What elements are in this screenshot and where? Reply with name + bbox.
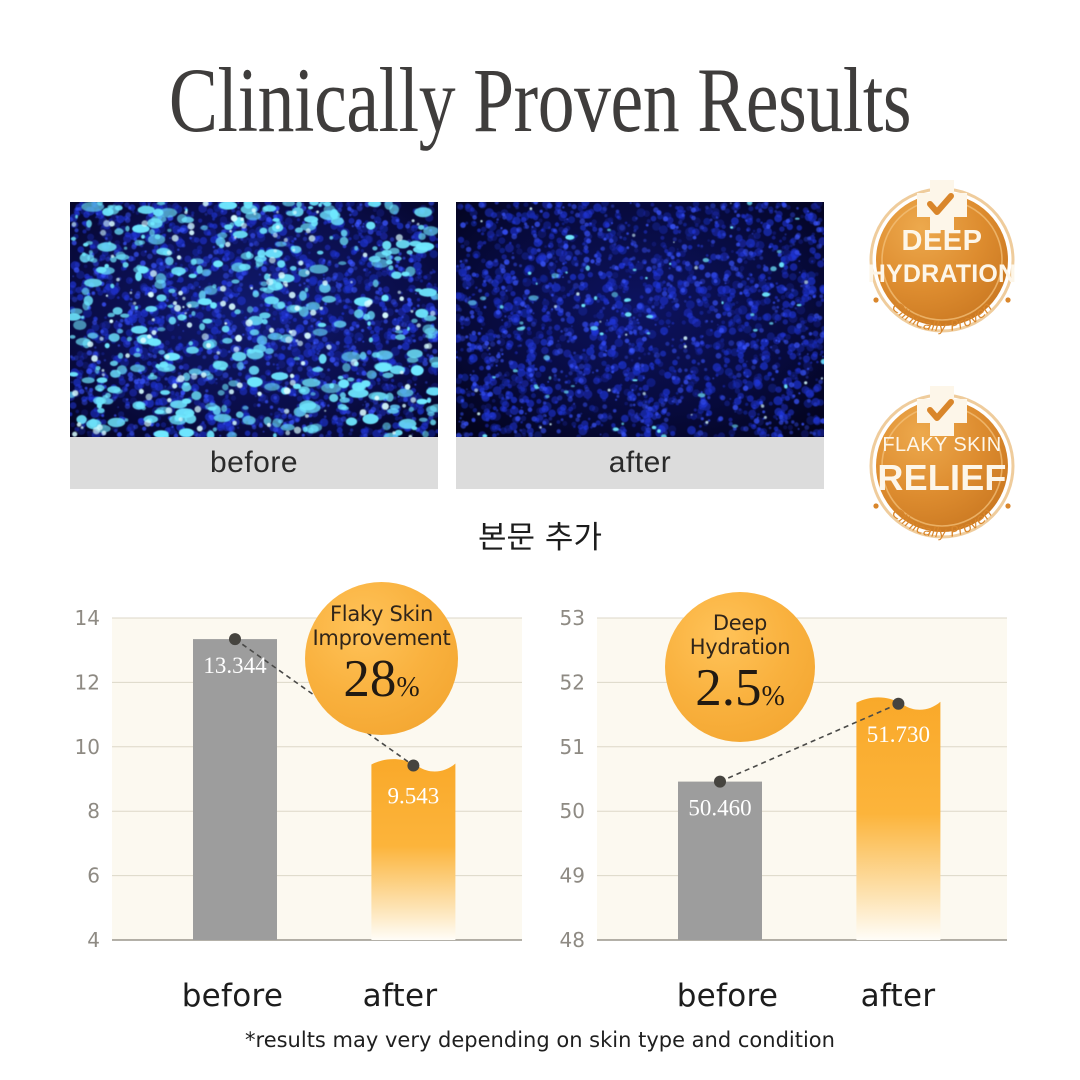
callout-flaky-unit: % [396,672,419,703]
callout-deep-value: 2.5% [695,661,785,724]
callout-flaky-line2: Improvement [313,626,451,650]
callout-flaky-skin-improvement: Flaky Skin Improvement 28% [305,582,458,735]
comparison-caption-after: after [456,437,824,489]
seal-deep-hydration-svg: DEEP HYDRATION Clinically Proven [862,172,1022,368]
page-title: Clinically Proven Results [108,52,972,148]
seal-badge-deep-hydration: DEEP HYDRATION Clinically Proven [862,172,1022,368]
korean-body-note: 본문 추가 [0,512,1080,557]
seal-dot-left [873,297,878,302]
x-label-left-before: before [150,978,315,1014]
comparison-panel-after: after [456,202,824,489]
x-label-right-after: after [818,978,978,1014]
callout-flaky-number: 28 [343,650,396,708]
seal-flaky-line2: RELIEF [877,457,1006,498]
fluorescence-micrograph-before-image [70,202,438,437]
seal-flaky-line1: FLAKY SKIN [882,434,1001,456]
callout-deep-unit: % [761,681,784,712]
callout-flaky-value: 28% [343,652,419,715]
seal-deep-line1: DEEP [902,225,983,257]
callout-deep-line2: Hydration [690,635,791,659]
seal-deep-line2: HYDRATION [868,260,1017,288]
seal-dot-right [1005,297,1010,302]
footnote-disclaimer: *results may very depending on skin type… [0,1028,1080,1052]
comparison-panel-before: before [70,202,438,489]
seal-dot-right [1005,503,1010,508]
flaky-skin-improvement-chart: 46810121413.3449.543 [60,600,530,1020]
callout-deep-number: 2.5 [695,659,761,717]
seal-dot-left [873,503,878,508]
callout-flaky-line1: Flaky Skin [330,602,433,626]
x-label-left-after: after [320,978,480,1014]
flaky-chart-svg: 46810121413.3449.543 [60,600,530,980]
x-label-right-before: before [645,978,810,1014]
fluorescence-micrograph-after-image [456,202,824,437]
callout-deep-hydration: Deep Hydration 2.5% [665,592,815,742]
callout-deep-line1: Deep [713,611,767,635]
micrograph-after-svg [456,202,824,437]
comparison-caption-before: before [70,437,438,489]
micrograph-before-svg [70,202,438,437]
